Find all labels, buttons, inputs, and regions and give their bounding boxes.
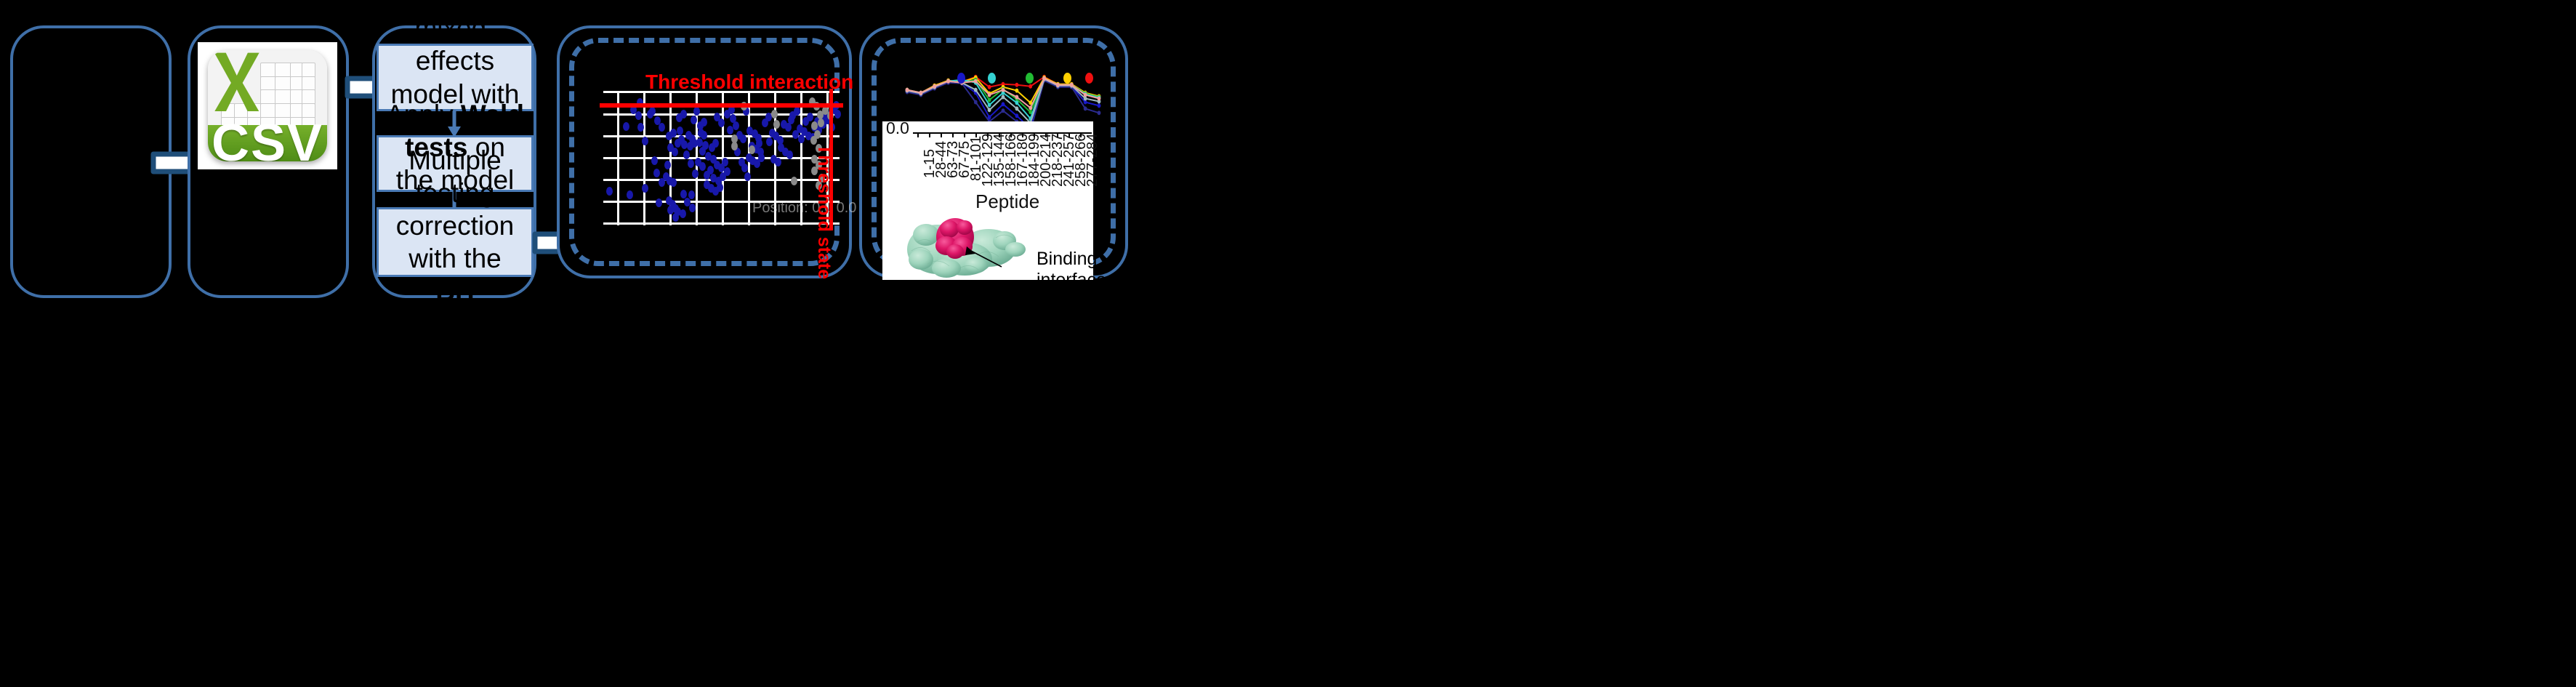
x-tick-label: 277-284 (1084, 134, 1101, 187)
series-marker (1029, 84, 1032, 89)
series-marker (933, 84, 936, 89)
gridline-v (643, 91, 645, 225)
series-marker (988, 85, 991, 89)
series-marker (1015, 83, 1019, 87)
workflow-diagram: CSV Fit a linear mixed- effects model wi… (0, 0, 2576, 687)
csv-icon-background: CSV (198, 42, 337, 169)
series-marker (1098, 111, 1101, 115)
series-marker (988, 93, 991, 97)
series-marker (919, 91, 923, 95)
series-marker (974, 88, 978, 92)
legend-dot-4 (1063, 73, 1071, 84)
scatter-plot: Position: 0.0 0.0 (603, 91, 840, 225)
series-marker (1056, 83, 1060, 87)
series-marker (1084, 93, 1087, 97)
faint-axis-text: Position: 0.0 0.0 (752, 200, 856, 217)
empty-input-panel (10, 25, 172, 298)
series-marker (946, 79, 950, 84)
series-marker (1084, 106, 1087, 111)
peptide-uptake-inset: 0.0 1-15 28-44 63-73 67-75 81-101 122-12… (882, 121, 1093, 280)
series-marker (1098, 97, 1101, 101)
series-marker (1015, 106, 1019, 111)
series-marker (1098, 103, 1101, 108)
x-axis-title: Peptide (975, 190, 1039, 213)
series-marker (988, 108, 991, 112)
series-marker (1002, 108, 1005, 113)
legend-dot-2 (988, 73, 996, 84)
series-marker (1015, 100, 1019, 105)
csv-format-label: CSV (212, 113, 323, 161)
csv-format-band: CSV (208, 125, 327, 161)
csv-file-icon[interactable]: CSV (208, 50, 327, 161)
binding-interface-annotation: Binding interface (1037, 249, 1106, 291)
gridline-v (617, 91, 619, 225)
protein-surface-structure (895, 213, 1041, 280)
y-axis-tick-zero: 0.0 (886, 118, 909, 138)
series-marker (1029, 105, 1032, 110)
step-multiple-testing-box[interactable]: Multiple testing correction with the BH … (377, 207, 534, 277)
series-marker (974, 79, 978, 84)
excel-x-letter (213, 52, 261, 112)
series-marker (1015, 89, 1019, 93)
series-marker (1015, 95, 1019, 100)
threshold-state-label: Threshold state (813, 144, 834, 279)
series-marker (1070, 83, 1074, 87)
step-multiple-testing-label: Multiple testing correction with the BH … (386, 144, 524, 341)
series-marker (988, 98, 991, 103)
series-marker (1002, 88, 1005, 92)
series-marker (1042, 76, 1046, 81)
legend-dot-5 (1085, 73, 1093, 84)
series-marker (1002, 102, 1005, 106)
series-marker (1015, 113, 1019, 118)
legend-dot-3 (1026, 73, 1034, 84)
series-marker (988, 103, 991, 107)
series-marker (974, 100, 978, 105)
series-marker (1002, 95, 1005, 100)
legend-dot-1 (957, 73, 965, 84)
series-marker (906, 88, 909, 92)
threshold-interaction-line (600, 103, 843, 108)
